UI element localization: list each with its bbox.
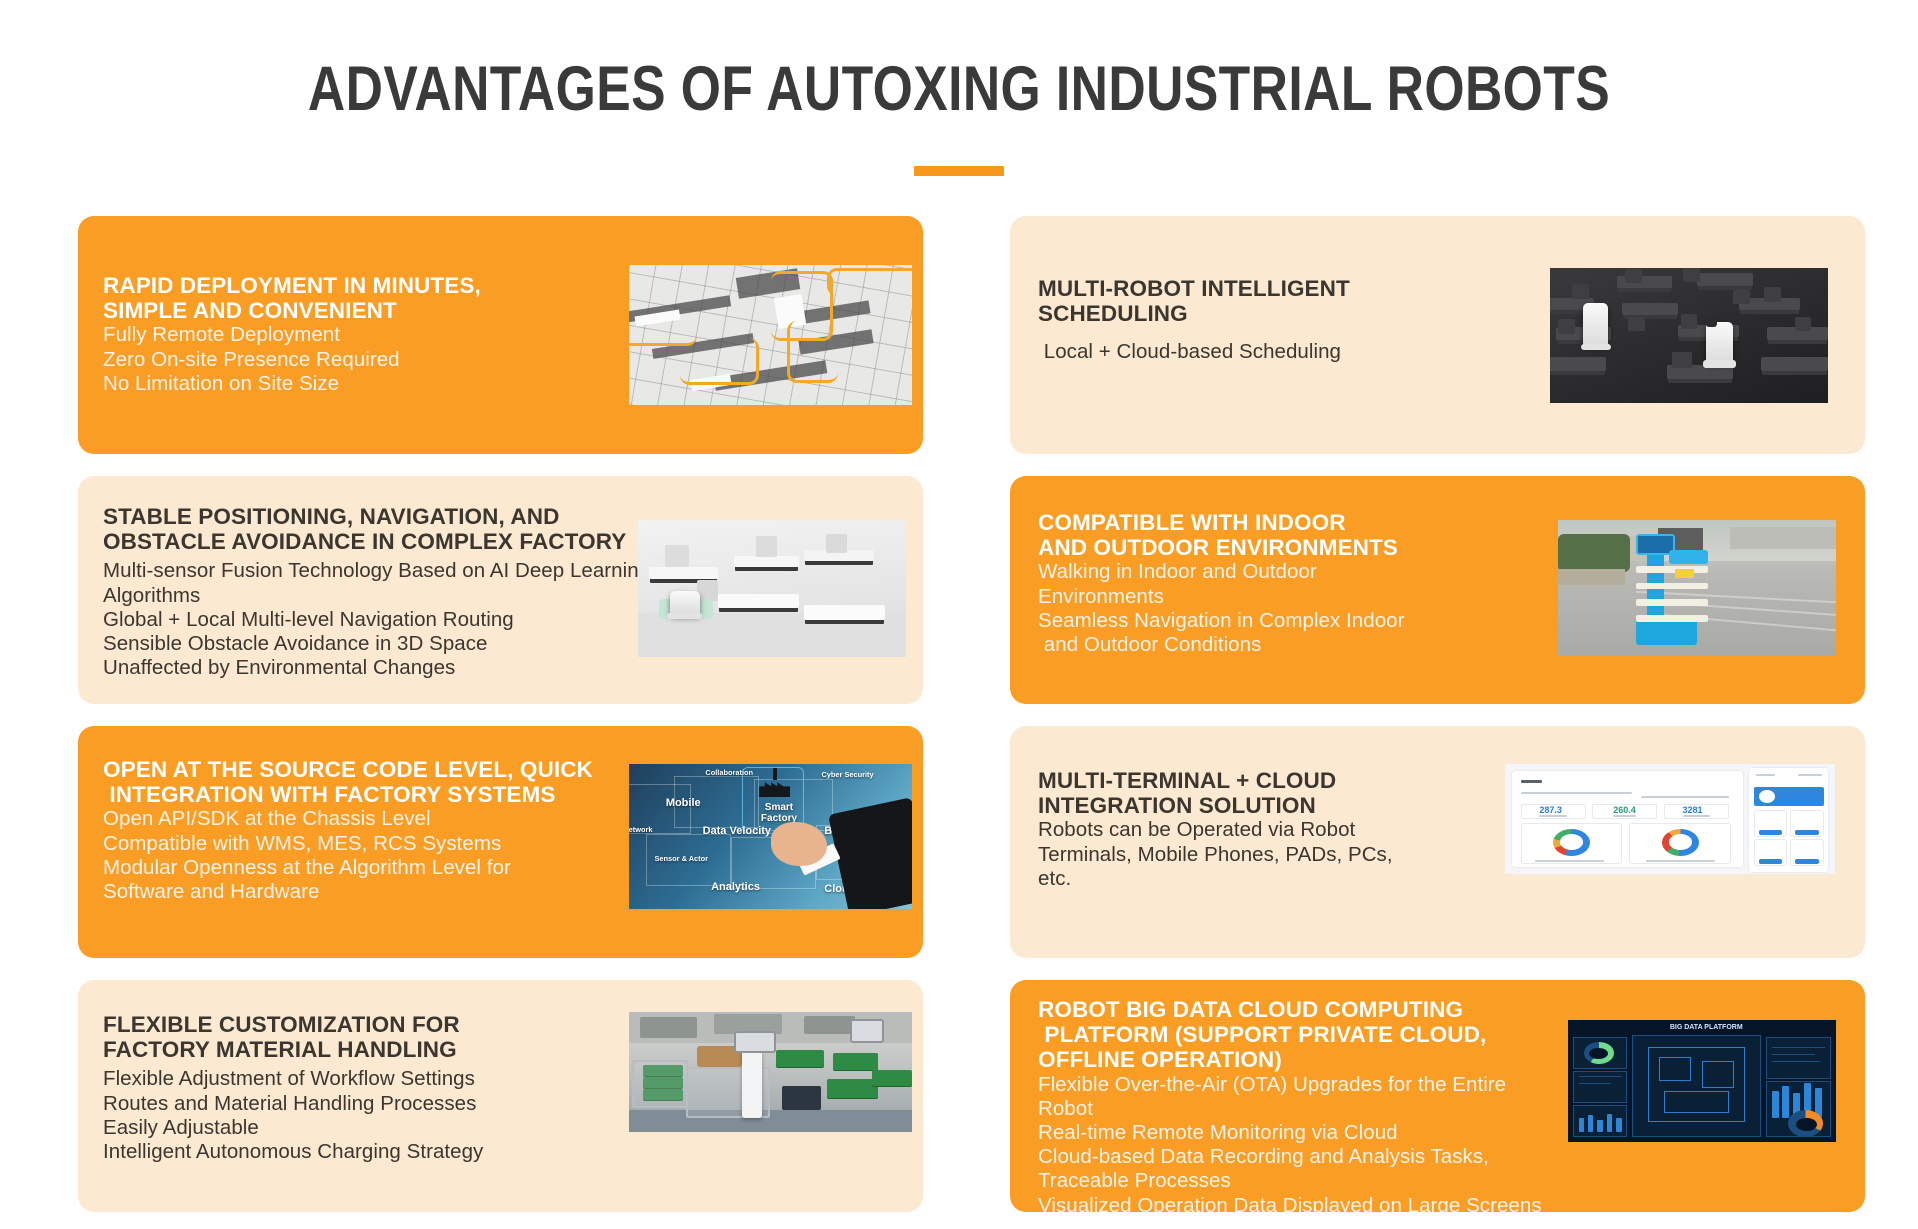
slam-map-thumbnail: [629, 265, 912, 405]
card-open-source-code-title: OPEN AT THE SOURCE CODE LEVEL, QUICK INT…: [103, 757, 623, 807]
card-flexible-customization-body: Flexible Adjustment of Workflow Settings…: [103, 1067, 623, 1164]
card-multi-robot-scheduling[interactable]: MULTI-ROBOT INTELLIGENT SCHEDULING Local…: [1010, 216, 1865, 454]
card-flexible-customization-text: FLEXIBLE CUSTOMIZATION FOR FACTORY MATER…: [103, 1012, 623, 1164]
card-rapid-deployment-body: Fully Remote Deployment Zero On-site Pre…: [103, 323, 623, 396]
management-dashboard-thumbnail: 287.3 260.4 3281: [1505, 764, 1835, 874]
card-multi-terminal-cloud-title: MULTI-TERMINAL + CLOUD INTEGRATION SOLUT…: [1038, 768, 1518, 818]
card-rapid-deployment[interactable]: RAPID DEPLOYMENT IN MINUTES, SIMPLE AND …: [78, 216, 923, 454]
card-big-data-cloud[interactable]: ROBOT BIG DATA CLOUD COMPUTING PLATFORM …: [1010, 980, 1865, 1212]
card-indoor-outdoor-body: Walking in Indoor and Outdoor Environmen…: [1038, 560, 1558, 657]
card-big-data-cloud-text: ROBOT BIG DATA CLOUD COMPUTING PLATFORM …: [1038, 997, 1598, 1212]
card-multi-terminal-cloud-text: MULTI-TERMINAL + CLOUD INTEGRATION SOLUT…: [1038, 768, 1518, 891]
page-title: ADVANTAGES OF AUTOXING INDUSTRIAL ROBOTS: [173, 56, 1746, 122]
smart-factory-label: SmartFactory: [748, 802, 810, 825]
indoor-robot-render-thumbnail: [638, 520, 906, 657]
card-rapid-deployment-text: RAPID DEPLOYMENT IN MINUTES, SIMPLE AND …: [103, 273, 623, 396]
multi-robot-scene-thumbnail: [1550, 268, 1828, 403]
card-stable-positioning-body: Multi-sensor Fusion Technology Based on …: [103, 559, 648, 680]
card-rapid-deployment-title: RAPID DEPLOYMENT IN MINUTES, SIMPLE AND …: [103, 273, 623, 323]
card-flexible-customization-title: FLEXIBLE CUSTOMIZATION FOR FACTORY MATER…: [103, 1012, 623, 1062]
card-multi-terminal-cloud-body: Robots can be Operated via Robot Termina…: [1038, 818, 1518, 891]
factory-floor-photo-thumbnail: [629, 1012, 912, 1132]
card-multi-robot-scheduling-body: Local + Cloud-based Scheduling: [1038, 340, 1558, 364]
card-open-source-code-body: Open API/SDK at the Chassis Level Compat…: [103, 807, 623, 904]
card-open-source-code[interactable]: OPEN AT THE SOURCE CODE LEVEL, QUICK INT…: [78, 726, 923, 958]
card-flexible-customization[interactable]: FLEXIBLE CUSTOMIZATION FOR FACTORY MATER…: [78, 980, 923, 1212]
smart-factory-tech-thumbnail: SmartFactory Collaboration Cyber Securit…: [629, 764, 912, 909]
card-indoor-outdoor-title: COMPATIBLE WITH INDOOR AND OUTDOOR ENVIR…: [1038, 510, 1558, 560]
card-big-data-cloud-body: Flexible Over-the-Air (OTA) Upgrades for…: [1038, 1073, 1598, 1212]
big-data-screen-thumbnail: BIG DATA PLATFORM: [1568, 1020, 1836, 1142]
card-big-data-cloud-title: ROBOT BIG DATA CLOUD COMPUTING PLATFORM …: [1038, 997, 1598, 1073]
card-stable-positioning-text: STABLE POSITIONING, NAVIGATION, AND OBST…: [103, 504, 648, 680]
card-indoor-outdoor[interactable]: COMPATIBLE WITH INDOOR AND OUTDOOR ENVIR…: [1010, 476, 1865, 704]
card-multi-robot-scheduling-text: MULTI-ROBOT INTELLIGENT SCHEDULING Local…: [1038, 276, 1558, 365]
title-underline-rule: [914, 166, 1004, 176]
card-multi-robot-scheduling-title: MULTI-ROBOT INTELLIGENT SCHEDULING: [1038, 276, 1558, 326]
card-open-source-code-text: OPEN AT THE SOURCE CODE LEVEL, QUICK INT…: [103, 757, 623, 904]
outdoor-delivery-robot-thumbnail: [1558, 520, 1836, 656]
card-multi-terminal-cloud[interactable]: MULTI-TERMINAL + CLOUD INTEGRATION SOLUT…: [1010, 726, 1865, 958]
card-indoor-outdoor-text: COMPATIBLE WITH INDOOR AND OUTDOOR ENVIR…: [1038, 510, 1558, 657]
infographic-page: ADVANTAGES OF AUTOXING INDUSTRIAL ROBOTS…: [0, 0, 1918, 1229]
card-stable-positioning-title: STABLE POSITIONING, NAVIGATION, AND OBST…: [103, 504, 648, 554]
card-stable-positioning[interactable]: STABLE POSITIONING, NAVIGATION, AND OBST…: [78, 476, 923, 704]
